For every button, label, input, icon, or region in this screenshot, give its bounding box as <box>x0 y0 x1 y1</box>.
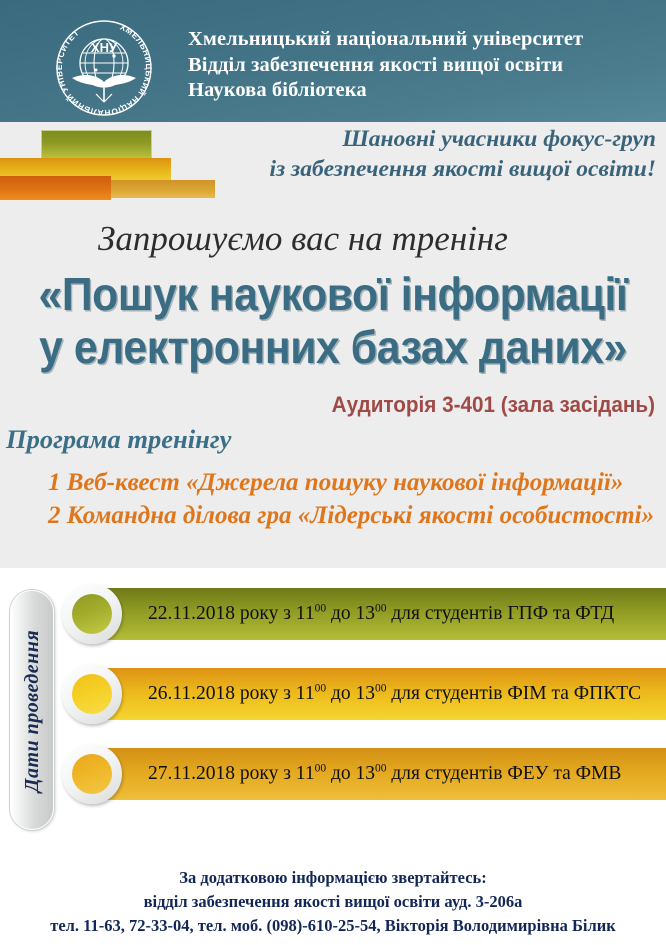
date-bullet-icon <box>62 744 122 804</box>
date-prefix: 26.11.2018 року з 11 <box>148 683 315 704</box>
footer-line-2: відділ забезпечення якості вищої освіти … <box>0 890 666 914</box>
footer-contact: За додатковою інформацією звертайтесь: в… <box>0 866 666 938</box>
dates-label-panel: Дати проведення <box>10 590 54 830</box>
header-line-2: Відділ забезпечення якості вищої освіти <box>188 53 583 79</box>
date-text: 22.11.2018 року з 1100 до 1300 для студе… <box>148 603 614 625</box>
header-title-block: Хмельницький національний університет Ві… <box>188 27 583 104</box>
date-sup-from: 00 <box>315 763 327 775</box>
date-sup-from: 00 <box>315 603 327 615</box>
date-bar: 22.11.2018 року з 1100 до 1300 для студе… <box>102 588 666 640</box>
svg-text:ХМЕЛЬНИЦЬКИЙ НАЦІОНАЛЬНИЙ УНІВ: ХМЕЛЬНИЦЬКИЙ НАЦІОНАЛЬНИЙ УНІВЕРСИТЕТ <box>55 23 153 118</box>
program-item-1: 1 Веб-квест «Джерела пошуку наукової інф… <box>48 466 654 499</box>
date-bullet-icon <box>62 664 122 724</box>
header-band: ХМЕЛЬНИЦЬКИЙ НАЦІОНАЛЬНИЙ УНІВЕРСИТЕТ ХН… <box>0 0 666 122</box>
university-emblem-icon: ХМЕЛЬНИЦЬКИЙ НАЦІОНАЛЬНИЙ УНІВЕРСИТЕТ ХН… <box>52 16 156 120</box>
date-row: 22.11.2018 року з 1100 до 1300 для студе… <box>62 584 666 644</box>
date-prefix: 22.11.2018 року з 11 <box>148 603 315 624</box>
date-middle: до 13 <box>326 763 375 784</box>
program-heading: Програма тренінгу <box>6 424 231 455</box>
header-line-1: Хмельницький національний університет <box>188 27 583 53</box>
greeting-line-1: Шановні учасники фокус-груп <box>0 124 656 154</box>
date-middle: до 13 <box>326 603 375 624</box>
date-text: 27.11.2018 року з 1100 до 1300 для студе… <box>148 763 621 785</box>
dates-label-text: Дати проведення <box>11 591 53 831</box>
date-bar: 27.11.2018 року з 1100 до 1300 для студе… <box>102 748 666 800</box>
date-suffix: для студентів ФЕУ та ФМВ <box>387 763 622 784</box>
date-middle: до 13 <box>326 683 375 704</box>
program-list: 1 Веб-квест «Джерела пошуку наукової інф… <box>48 466 654 532</box>
date-bar: 26.11.2018 року з 1100 до 1300 для студе… <box>102 668 666 720</box>
date-row: 27.11.2018 року з 1100 до 1300 для студе… <box>62 744 666 804</box>
footer-line-1: За додатковою інформацією звертайтесь: <box>0 866 666 890</box>
page-title: «Пошук наукової інформації у електронних… <box>23 268 642 374</box>
date-sup-from: 00 <box>315 683 327 695</box>
poster: ХМЕЛЬНИЦЬКИЙ НАЦІОНАЛЬНИЙ УНІВЕРСИТЕТ ХН… <box>0 0 666 945</box>
dates-section: Дати проведення 22.11.2018 року з 1100 д… <box>0 568 666 858</box>
title-line-1: «Пошук наукової інформації <box>23 268 642 321</box>
greeting-line-2: із забезпечення якості вищої освіти! <box>0 154 656 184</box>
title-line-2: у електронних базах даних» <box>23 321 642 374</box>
header-line-3: Наукова бібліотека <box>188 78 583 104</box>
date-bullet-icon <box>62 584 122 644</box>
invitation-text: Запрошуємо вас на тренінг <box>0 218 666 260</box>
greeting-text: Шановні учасники фокус-груп із забезпече… <box>0 124 656 184</box>
auditorium-text: Аудиторія 3-401 (зала засідань) <box>39 392 655 418</box>
date-row: 26.11.2018 року з 1100 до 1300 для студе… <box>62 664 666 724</box>
program-item-2: 2 Командна ділова гра «Лідерські якості … <box>48 499 654 532</box>
date-text: 26.11.2018 року з 1100 до 1300 для студе… <box>148 683 641 705</box>
date-sup-to: 00 <box>375 603 387 615</box>
date-sup-to: 00 <box>375 683 387 695</box>
footer-line-3: тел. 11-63, 72-33-04, тел. моб. (098)-61… <box>0 914 666 938</box>
date-prefix: 27.11.2018 року з 11 <box>148 763 315 784</box>
date-suffix: для студентів ГПФ та ФТД <box>387 603 615 624</box>
date-sup-to: 00 <box>375 763 387 775</box>
date-suffix: для студентів ФІМ та ФПКТС <box>387 683 642 704</box>
svg-text:ХНУ: ХНУ <box>91 40 118 55</box>
